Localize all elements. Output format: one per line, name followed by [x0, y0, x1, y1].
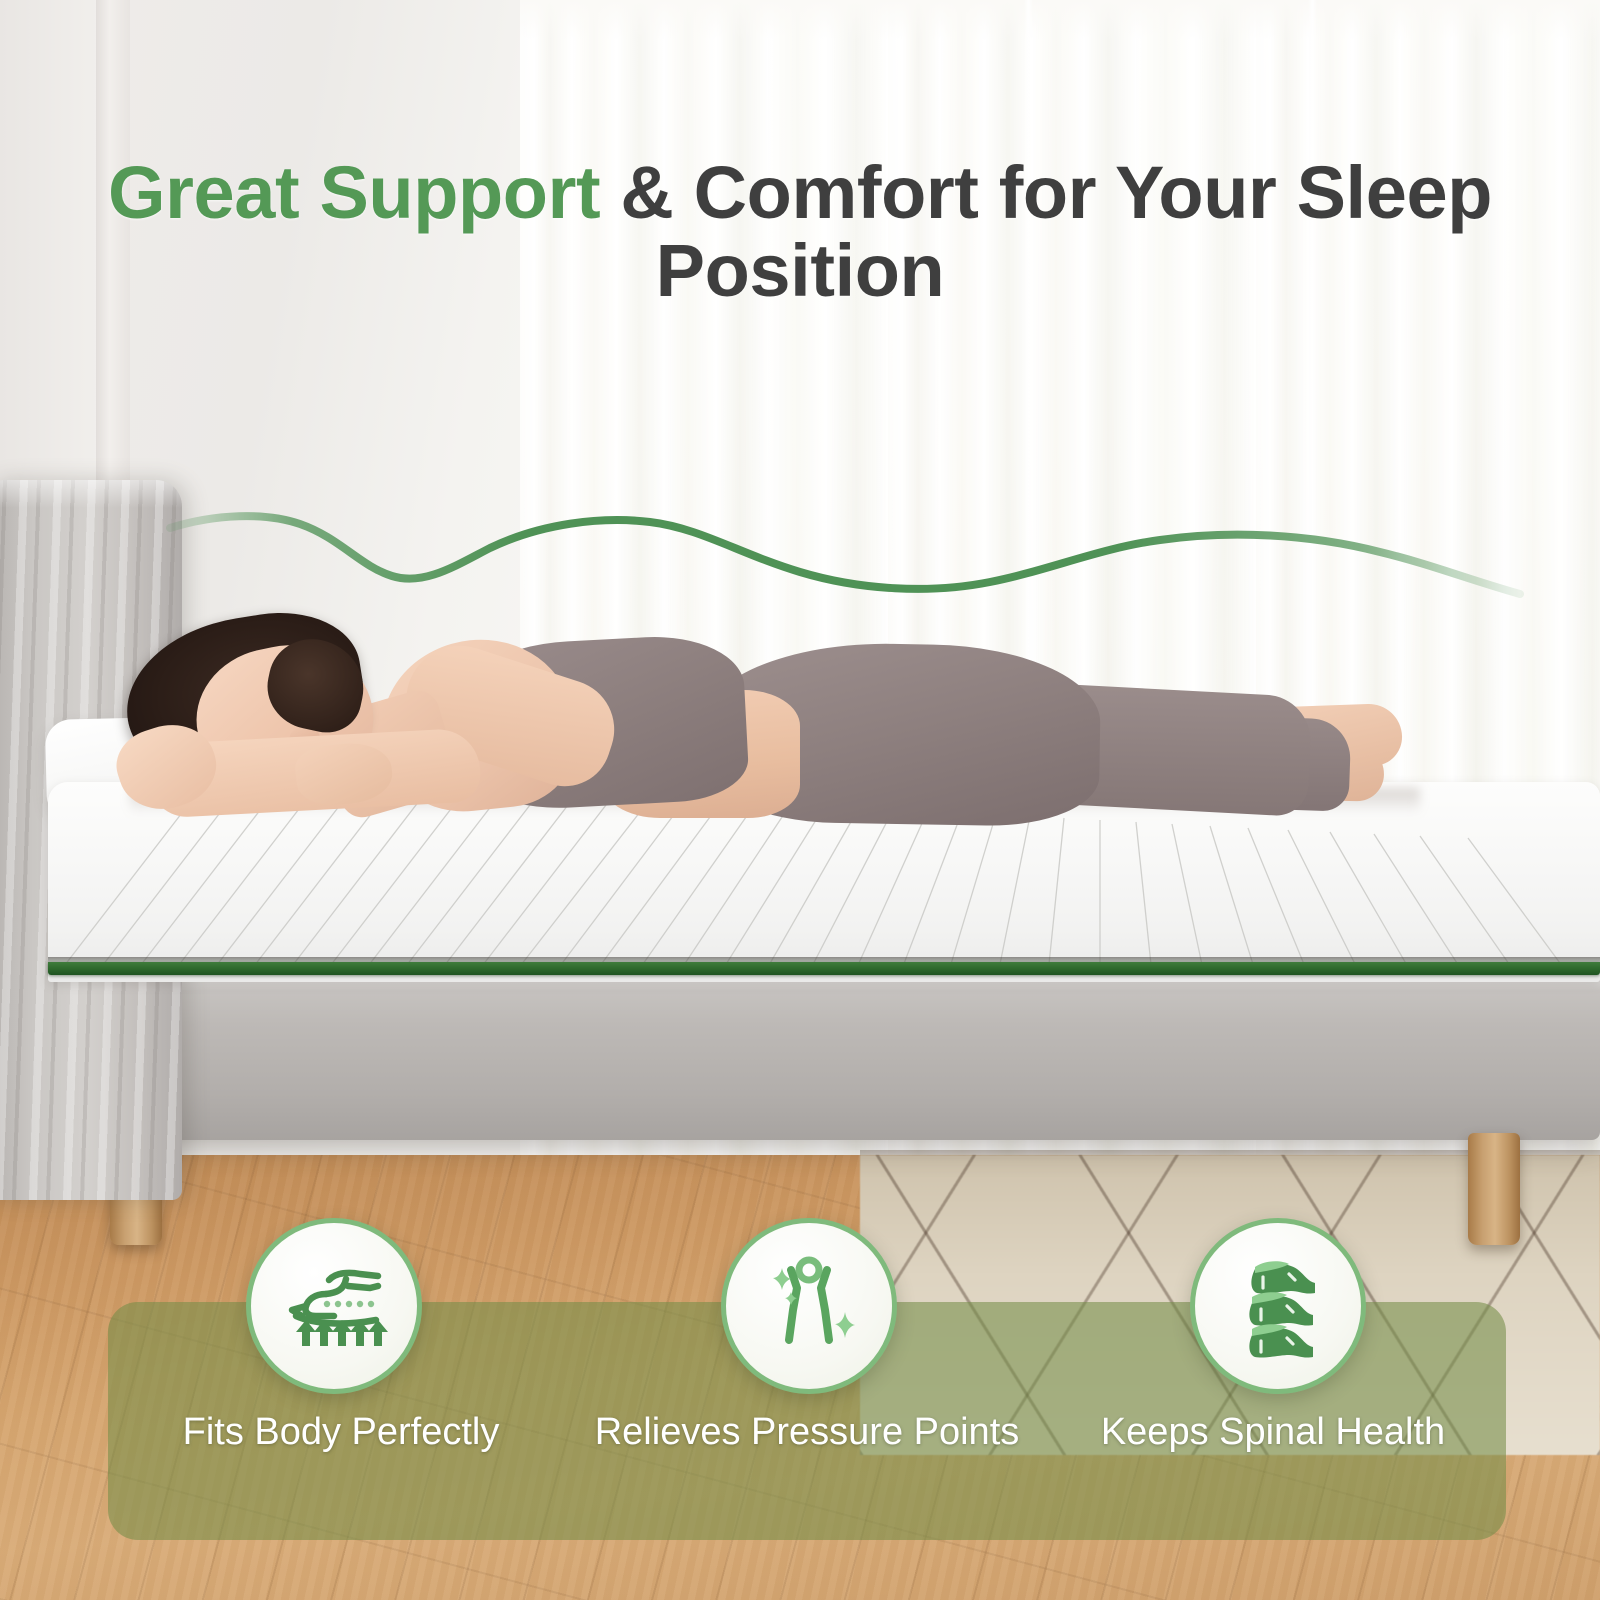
feature-item-relieves-pressure[interactable]: Relieves Pressure Points — [574, 1218, 1040, 1540]
spine-vertebrae-icon — [1219, 1247, 1337, 1365]
feature-item-fits-body[interactable]: Fits Body Perfectly — [108, 1218, 574, 1540]
headline-highlight: Great Support — [108, 151, 600, 234]
feature-label: Keeps Spinal Health — [1040, 1410, 1506, 1455]
product-banner: Great Support & Comfort for Your Sleep P… — [0, 0, 1600, 1600]
feature-icon-circle — [246, 1218, 422, 1394]
body-support-arrows-icon — [274, 1246, 394, 1366]
feature-label: Relieves Pressure Points — [574, 1410, 1040, 1455]
feature-label: Fits Body Perfectly — [108, 1410, 574, 1455]
feature-icon-circle — [1190, 1218, 1366, 1394]
page-title: Great Support & Comfort for Your Sleep P… — [0, 154, 1600, 311]
feature-item-spinal-health[interactable]: Keeps Spinal Health — [1040, 1218, 1506, 1540]
feature-icon-circle — [721, 1218, 897, 1394]
feature-badges: Fits Body Perfectly Reliev — [108, 1218, 1506, 1540]
stretching-person-sparkles-icon — [751, 1248, 867, 1364]
headline-rest: & Comfort for Your Sleep Position — [600, 151, 1492, 312]
